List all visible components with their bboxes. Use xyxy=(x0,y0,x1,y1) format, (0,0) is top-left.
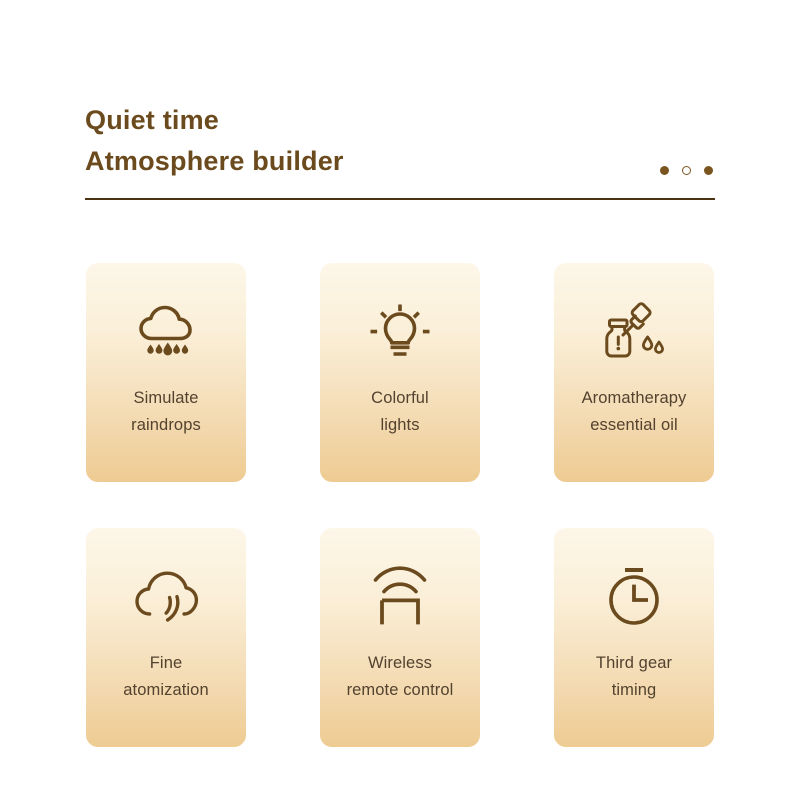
feature-card-colorful-lights[interactable]: Colorful lights xyxy=(320,263,480,482)
feature-label-line-1: Simulate xyxy=(90,385,242,412)
pagination-dot-2[interactable] xyxy=(682,166,691,175)
feature-label-line-1: Wireless xyxy=(324,650,476,677)
feature-card-label: Fine atomization xyxy=(90,650,242,703)
feature-card-label: Third gear timing xyxy=(558,650,710,703)
promo-feature-page: Quiet time Atmosphere builder xyxy=(0,0,800,807)
feature-label-line-2: essential oil xyxy=(558,412,710,439)
feature-label-line-2: lights xyxy=(324,412,476,439)
feature-label-line-2: atomization xyxy=(90,677,242,704)
feature-label-line-2: remote control xyxy=(324,677,476,704)
feature-label-line-1: Fine xyxy=(90,650,242,677)
stopwatch-icon xyxy=(598,566,670,628)
feature-card-label: Aromatherapy essential oil xyxy=(558,385,710,438)
feature-label-line-2: timing xyxy=(558,677,710,704)
feature-label-line-1: Third gear xyxy=(558,650,710,677)
feature-card-aromatherapy-essential-oil[interactable]: Aromatherapy essential oil xyxy=(554,263,714,482)
mist-cloud-icon xyxy=(130,566,202,628)
pagination-dot-1[interactable] xyxy=(660,166,669,175)
title-line-2: Atmosphere builder xyxy=(85,141,344,182)
essential-oil-dropper-icon xyxy=(598,301,670,363)
header-divider xyxy=(85,198,715,200)
feature-card-wireless-remote-control[interactable]: Wireless remote control xyxy=(320,528,480,747)
pagination-dots[interactable] xyxy=(660,166,715,175)
feature-card-label: Simulate raindrops xyxy=(90,385,242,438)
feature-card-grid: Simulate raindrops xyxy=(86,263,714,747)
feature-label-line-1: Aromatherapy xyxy=(558,385,710,412)
feature-card-label: Wireless remote control xyxy=(324,650,476,703)
pagination-dot-3[interactable] xyxy=(704,166,713,175)
title-line-1: Quiet time xyxy=(85,100,344,141)
feature-card-label: Colorful lights xyxy=(324,385,476,438)
lightbulb-icon xyxy=(364,301,436,363)
feature-card-third-gear-timing[interactable]: Third gear timing xyxy=(554,528,714,747)
wireless-signal-icon xyxy=(364,566,436,628)
title-block: Quiet time Atmosphere builder xyxy=(85,100,715,182)
feature-card-fine-atomization[interactable]: Fine atomization xyxy=(86,528,246,747)
rain-cloud-icon xyxy=(130,301,202,363)
feature-label-line-1: Colorful xyxy=(324,385,476,412)
page-title: Quiet time Atmosphere builder xyxy=(85,100,344,182)
feature-card-simulate-raindrops[interactable]: Simulate raindrops xyxy=(86,263,246,482)
header: Quiet time Atmosphere builder xyxy=(85,100,715,200)
feature-label-line-2: raindrops xyxy=(90,412,242,439)
